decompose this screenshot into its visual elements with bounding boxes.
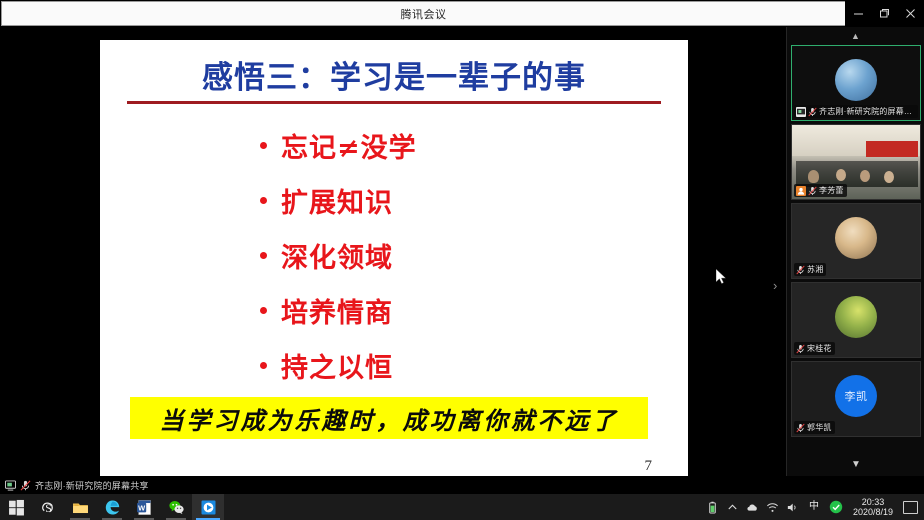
bullet-dot-icon: [260, 362, 267, 369]
list-item: 深化领域: [260, 228, 680, 283]
slide-bullet-list: 忘记≠没学 扩展知识 深化领域 培养情商 持之以恒: [260, 118, 680, 393]
edge-browser-icon: [104, 499, 121, 516]
start-button[interactable]: [0, 494, 32, 520]
bullet-text: 培养情商: [281, 291, 393, 330]
share-status-bar: 齐志刚·新研究院的屏幕共享: [0, 476, 786, 494]
avatar: [835, 217, 877, 259]
microphone-muted-icon: [808, 107, 817, 117]
restore-button[interactable]: [872, 3, 896, 25]
windows-logo-icon: [8, 499, 25, 516]
microphone-muted-icon: [796, 265, 805, 275]
window-title: 腾讯会议: [401, 6, 447, 22]
participant-rail: ▲ 齐志刚·新研究院的屏幕共享: [786, 27, 924, 476]
close-button[interactable]: [899, 3, 923, 25]
title-underline: [127, 101, 661, 104]
participant-label: 苏湘: [794, 263, 826, 276]
list-item[interactable]: 李芳蕾: [791, 124, 921, 200]
avatar: [835, 59, 877, 101]
sogou-ime-icon: S: [40, 499, 57, 516]
list-item[interactable]: 宋桂花: [791, 282, 921, 358]
participant-label: 郭华凯: [794, 421, 835, 434]
taskbar-app-list: S: [0, 494, 224, 520]
shared-screen-area[interactable]: 感悟三：学习是一辈子的事 忘记≠没学 扩展知识 深化领域 培养情商: [0, 27, 786, 476]
participant-name: 苏湘: [807, 264, 823, 275]
list-item: 持之以恒: [260, 338, 680, 393]
scroll-down-arrow-icon[interactable]: ▼: [787, 452, 924, 476]
volume-icon[interactable]: [786, 501, 799, 514]
list-item[interactable]: 苏湘: [791, 203, 921, 279]
svg-text:W: W: [138, 503, 145, 512]
clock-date: 2020/8/19: [853, 507, 893, 517]
window-controls: [845, 0, 924, 27]
microphone-muted-icon: [796, 344, 805, 354]
file-explorer-icon: [72, 499, 89, 516]
windows-taskbar: S: [0, 494, 924, 520]
microphone-muted-icon: [796, 423, 805, 433]
microphone-muted-icon: [808, 186, 817, 196]
participant-name: 郭华凯: [807, 422, 832, 433]
mouse-cursor-icon: [716, 269, 728, 285]
presentation-slide: 感悟三：学习是一辈子的事 忘记≠没学 扩展知识 深化领域 培养情商: [100, 40, 688, 476]
bullet-text: 扩展知识: [281, 181, 393, 220]
scroll-up-arrow-icon[interactable]: ▲: [787, 27, 924, 45]
participant-name: 李芳蕾: [819, 185, 844, 196]
minimize-button[interactable]: [846, 3, 870, 25]
highlight-text: 当学习成为乐趣时，成功离你就不远了: [160, 401, 619, 436]
action-center-icon[interactable]: [903, 501, 918, 514]
avatar: 李凯: [835, 375, 877, 417]
security-shield-icon[interactable]: [829, 500, 843, 514]
list-item: 培养情商: [260, 283, 680, 338]
taskbar-app-powerpoint[interactable]: [192, 494, 224, 520]
bullet-dot-icon: [260, 252, 267, 259]
microphone-muted-icon: [20, 480, 31, 491]
bullet-text: 持之以恒: [281, 346, 393, 385]
bullet-dot-icon: [260, 197, 267, 204]
bullet-text: 深化领域: [281, 236, 393, 275]
wechat-icon: [168, 499, 185, 516]
onedrive-icon[interactable]: [746, 501, 759, 514]
taskbar-app-explorer[interactable]: [64, 494, 96, 520]
slide-highlight-banner: 当学习成为乐趣时，成功离你就不远了: [130, 397, 648, 439]
participant-name: 齐志刚·新研究院的屏幕共享: [819, 106, 915, 117]
screen-share-badge-icon: [796, 107, 806, 117]
taskbar-app-wechat[interactable]: [160, 494, 192, 520]
expand-panel-chevron-icon[interactable]: ›: [773, 279, 777, 292]
title-bar: 腾讯会议: [0, 0, 924, 27]
taskbar-app-word[interactable]: W: [128, 494, 160, 520]
meeting-window: 腾讯会议 感悟三：学习是一辈子的事: [0, 0, 924, 520]
network-wifi-icon[interactable]: [766, 501, 779, 514]
clock-time: 20:33: [862, 497, 885, 507]
battery-icon[interactable]: [706, 501, 719, 514]
list-item[interactable]: 李凯 郭华凯: [791, 361, 921, 437]
slide-page-number: 7: [645, 458, 653, 475]
participant-list: 齐志刚·新研究院的屏幕共享: [787, 45, 924, 437]
screen-share-icon: [5, 480, 16, 491]
participant-name: 宋桂花: [807, 343, 832, 354]
list-item: 忘记≠没学: [260, 118, 680, 173]
participant-label: 李芳蕾: [794, 184, 847, 197]
taskbar-app-edge[interactable]: [96, 494, 128, 520]
participant-label: 齐志刚·新研究院的屏幕共享: [794, 105, 918, 118]
bullet-text: 忘记≠没学: [281, 126, 417, 165]
taskbar-app-sogou[interactable]: S: [32, 494, 64, 520]
host-badge-icon: [796, 186, 806, 196]
share-status-text: 齐志刚·新研究院的屏幕共享: [35, 479, 149, 492]
word-icon: W: [136, 499, 153, 516]
list-item: 扩展知识: [260, 173, 680, 228]
ime-indicator[interactable]: 中: [806, 501, 822, 513]
avatar: [835, 296, 877, 338]
slide-title: 感悟三：学习是一辈子的事: [100, 52, 688, 97]
bullet-dot-icon: [260, 142, 267, 149]
show-hidden-icons-chevron-icon[interactable]: [726, 501, 739, 514]
taskbar-clock[interactable]: 20:33 2020/8/19: [850, 497, 896, 518]
system-tray: 中 20:33 2020/8/19: [706, 494, 924, 520]
powerpoint-icon: [200, 499, 217, 516]
bullet-dot-icon: [260, 307, 267, 314]
participant-label: 宋桂花: [794, 342, 835, 355]
list-item[interactable]: 齐志刚·新研究院的屏幕共享: [791, 45, 921, 121]
title-bar-surface[interactable]: 腾讯会议: [1, 1, 846, 26]
